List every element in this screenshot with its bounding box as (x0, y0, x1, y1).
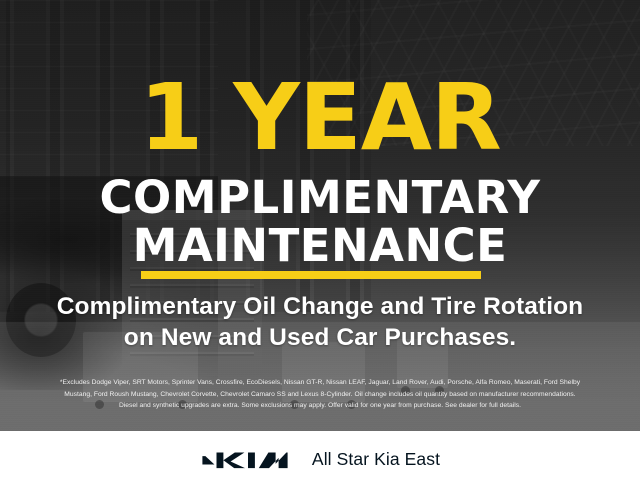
subheadline-line-2: MAINTENANCE (0, 223, 640, 269)
disclaimer-line-2: Mustang, Ford Roush Mustang, Chevrolet C… (14, 389, 626, 401)
offer-line-1: Complimentary Oil Change and Tire Rotati… (0, 291, 640, 322)
offer-description: Complimentary Oil Change and Tire Rotati… (0, 291, 640, 354)
subheadline-complimentary-maintenance: COMPLIMENTARY MAINTENANCE (0, 175, 640, 269)
promotional-banner: 1 YEAR COMPLIMENTARY MAINTENANCE Complim… (0, 0, 640, 488)
offer-line-2: on New and Used Car Purchases. (0, 322, 640, 353)
yellow-divider-rule (141, 271, 481, 279)
subheadline-line-1: COMPLIMENTARY (0, 175, 640, 221)
banner-content: 1 YEAR COMPLIMENTARY MAINTENANCE Complim… (0, 0, 640, 488)
dealer-name: All Star Kia East (312, 449, 440, 470)
disclaimer-line-1: *Excludes Dodge Viper, SRT Motors, Sprin… (14, 377, 626, 389)
disclaimer-fine-print: *Excludes Dodge Viper, SRT Motors, Sprin… (14, 377, 626, 412)
headline-one-year: 1 YEAR (0, 76, 640, 161)
dealer-footer: All Star Kia East (0, 431, 640, 488)
disclaimer-line-3: Diesel and synthetic upgrades are extra.… (14, 400, 626, 412)
kia-logo (200, 447, 290, 473)
